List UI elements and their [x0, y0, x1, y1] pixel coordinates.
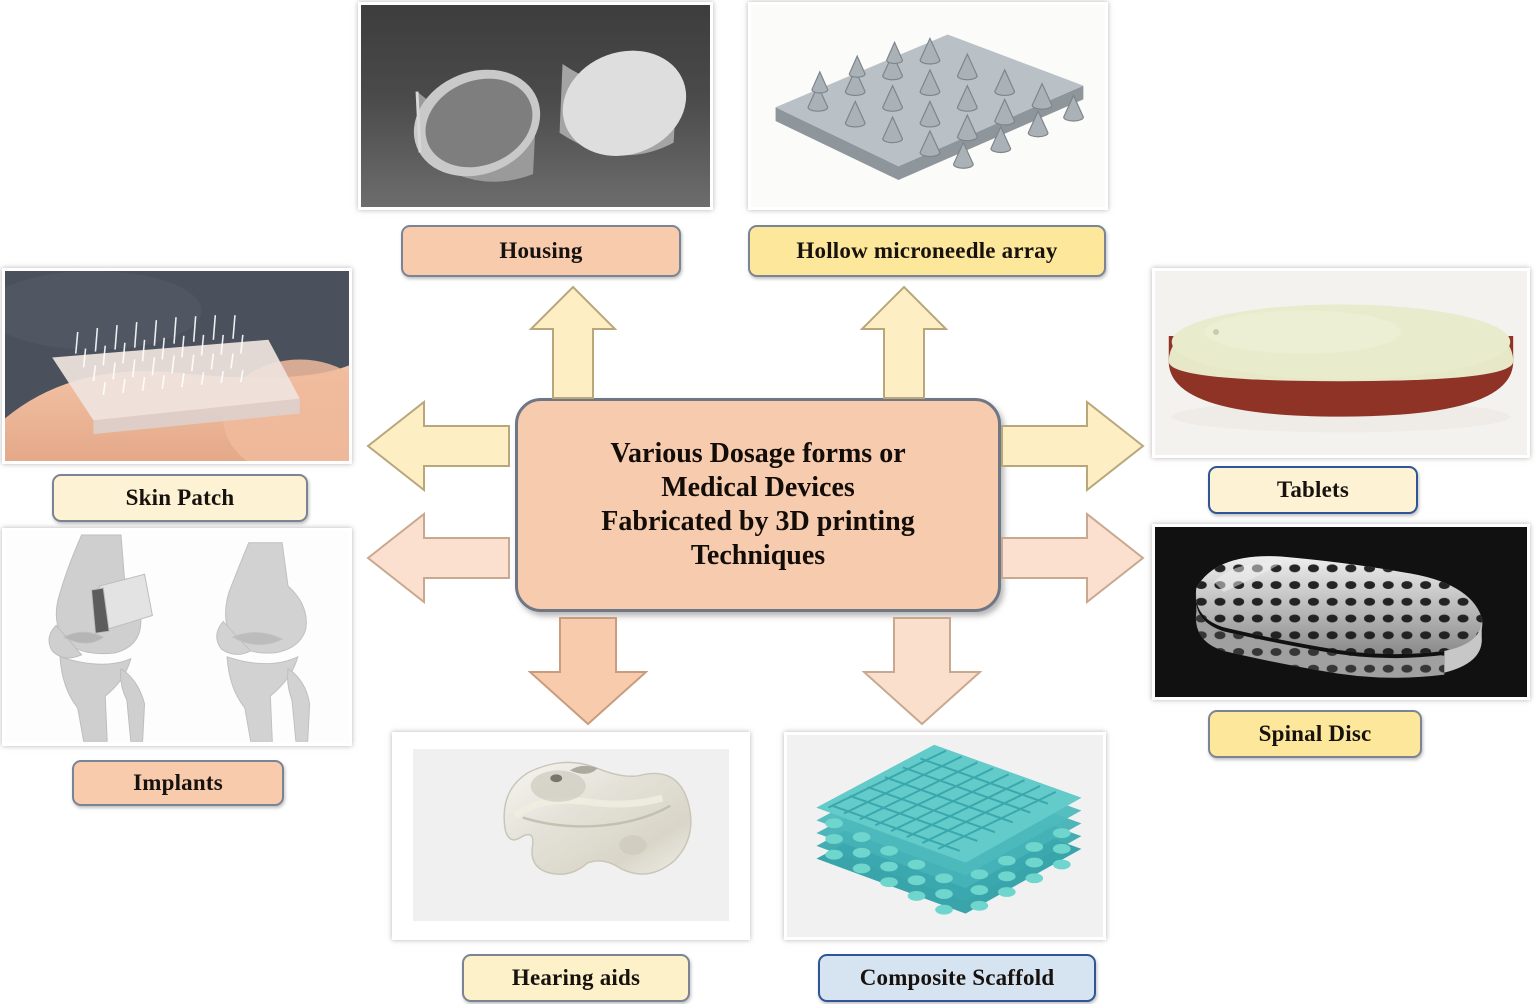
label-tablets-text: Tablets	[1277, 477, 1349, 503]
knee-implant-render	[5, 531, 349, 743]
arrow-down-icon	[862, 616, 982, 726]
arrow-to-implants	[366, 512, 511, 604]
image-hollow-microneedle-array	[748, 2, 1108, 210]
image-tablets	[1152, 268, 1530, 458]
image-skin-patch	[2, 268, 352, 464]
housing-render	[361, 5, 710, 207]
label-implants-text: Implants	[133, 770, 223, 796]
arrow-right-icon	[1000, 512, 1145, 604]
image-spinal-disc	[1152, 524, 1530, 700]
spinal-disc-render	[1155, 527, 1527, 697]
image-composite-scaffold	[784, 732, 1106, 940]
arrow-right-icon	[1000, 400, 1145, 492]
center-line-3: Fabricated by 3D printing	[601, 505, 914, 539]
diagram-canvas: Housing	[0, 0, 1536, 1004]
center-line-1: Various Dosage forms or	[601, 437, 914, 471]
label-tablets[interactable]: Tablets	[1208, 466, 1418, 514]
center-hub: Various Dosage forms or Medical Devices …	[515, 398, 1001, 612]
image-implants	[2, 528, 352, 746]
arrow-down-icon	[528, 616, 648, 726]
center-line-2: Medical Devices	[601, 471, 914, 505]
label-hollow-microneedle-array-text: Hollow microneedle array	[796, 238, 1057, 264]
center-hub-text: Various Dosage forms or Medical Devices …	[601, 437, 914, 574]
arrow-to-hearing-aids	[528, 616, 648, 726]
label-skin-patch[interactable]: Skin Patch	[52, 474, 308, 522]
arrow-up-icon	[860, 285, 948, 400]
hearing-aid-render	[395, 735, 747, 937]
label-hollow-microneedle-array[interactable]: Hollow microneedle array	[748, 225, 1106, 277]
tablet-render	[1155, 271, 1527, 455]
arrow-to-spinal-disc	[1000, 512, 1145, 604]
label-housing-text: Housing	[499, 238, 582, 264]
center-line-4: Techniques	[601, 539, 914, 573]
label-spinal-disc-text: Spinal Disc	[1259, 721, 1372, 747]
skin-patch-render	[5, 271, 349, 461]
image-housing	[358, 2, 713, 210]
arrow-left-icon	[366, 400, 511, 492]
label-spinal-disc[interactable]: Spinal Disc	[1208, 710, 1422, 758]
arrow-to-hollow-microneedle-array	[860, 285, 948, 400]
label-implants[interactable]: Implants	[72, 760, 284, 806]
arrow-to-housing	[529, 285, 617, 400]
image-hearing-aids	[392, 732, 750, 940]
arrow-to-tablets	[1000, 400, 1145, 492]
scaffold-render	[787, 735, 1103, 937]
arrow-to-composite-scaffold	[862, 616, 982, 726]
label-hearing-aids-text: Hearing aids	[512, 965, 640, 991]
label-composite-scaffold[interactable]: Composite Scaffold	[818, 954, 1096, 1002]
arrow-left-icon	[366, 512, 511, 604]
label-skin-patch-text: Skin Patch	[126, 485, 235, 511]
label-hearing-aids[interactable]: Hearing aids	[462, 954, 690, 1002]
arrow-up-icon	[529, 285, 617, 400]
microneedle-array-render	[751, 5, 1105, 207]
arrow-to-skin-patch	[366, 400, 511, 492]
label-housing[interactable]: Housing	[401, 225, 681, 277]
label-composite-scaffold-text: Composite Scaffold	[860, 965, 1055, 991]
